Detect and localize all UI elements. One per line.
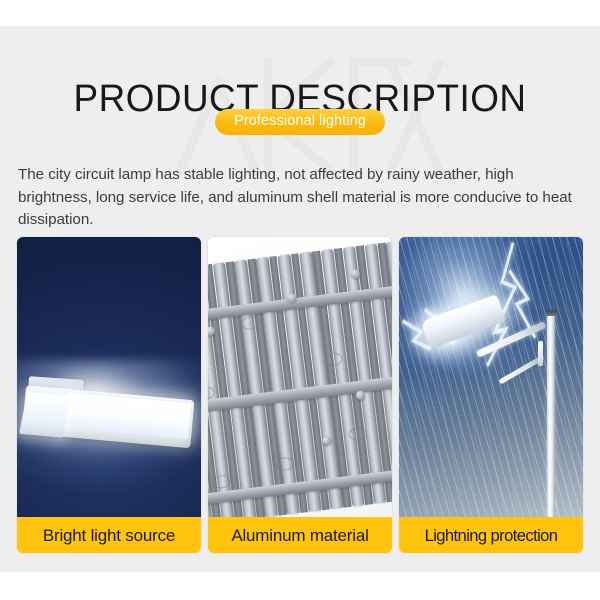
heat-sink-photo (208, 237, 392, 517)
card-caption: Lightning protection (399, 517, 583, 553)
rain-streaks-back (399, 237, 583, 517)
lamp-pole (547, 315, 555, 517)
status-badge: Professional lighting (215, 109, 385, 135)
content-panel: PRODUCT DESCRIPTION Professional lightin… (0, 26, 600, 572)
badge-container: Professional lighting (0, 109, 600, 135)
storm-lamp-photo (399, 237, 583, 517)
led-panel-photo (17, 237, 201, 517)
card-caption: Bright light source (17, 517, 201, 553)
feature-card-list: Bright light source (17, 237, 583, 553)
card-caption: Aluminum material (208, 517, 392, 553)
heat-sink-boss (287, 292, 297, 302)
lamp-front-module (19, 392, 71, 437)
lamp-brace-strut (538, 341, 543, 366)
heat-sink-body (208, 240, 392, 517)
feature-card-lightning-protection[interactable]: Lightning protection (399, 237, 583, 553)
feature-card-bright-light-source[interactable]: Bright light source (17, 237, 201, 553)
lamp-pole-cap (546, 310, 557, 316)
product-description-page: PRODUCT DESCRIPTION Professional lightin… (0, 0, 600, 600)
feature-card-aluminum-material[interactable]: Aluminum material (208, 237, 392, 553)
description-text: The city circuit lamp has stable lightin… (18, 164, 584, 232)
